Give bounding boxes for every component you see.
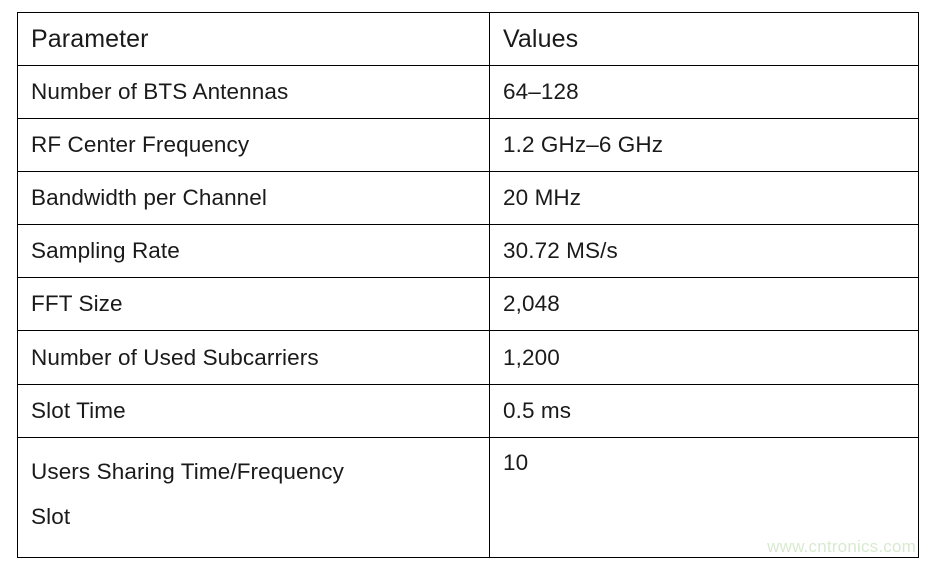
cell-parameter: RF Center Frequency xyxy=(18,119,490,172)
cell-parameter: Number of Used Subcarriers xyxy=(18,331,490,384)
cell-value: 1.2 GHz–6 GHz xyxy=(490,119,919,172)
cell-value: 0.5 ms xyxy=(490,384,919,437)
cell-parameter: Bandwidth per Channel xyxy=(18,172,490,225)
cell-value: 20 MHz xyxy=(490,172,919,225)
table-row: Number of Used Subcarriers 1,200 xyxy=(18,331,919,384)
table-header: Parameter Values xyxy=(18,13,919,66)
table-row: RF Center Frequency 1.2 GHz–6 GHz xyxy=(18,119,919,172)
table-row: Bandwidth per Channel 20 MHz xyxy=(18,172,919,225)
table-row: Sampling Rate 30.72 MS/s xyxy=(18,225,919,278)
parameter-values-table: Parameter Values Number of BTS Antennas … xyxy=(17,12,919,558)
table-row: Slot Time 0.5 ms xyxy=(18,384,919,437)
cell-value: 2,048 xyxy=(490,278,919,331)
column-header-values: Values xyxy=(490,13,919,66)
cell-parameter: Slot Time xyxy=(18,384,490,437)
column-header-parameter: Parameter xyxy=(18,13,490,66)
table-body: Number of BTS Antennas 64–128 RF Center … xyxy=(18,66,919,558)
cell-value: 1,200 xyxy=(490,331,919,384)
table-row: Users Sharing Time/Frequency Slot 10 xyxy=(18,437,919,557)
cell-parameter: FFT Size xyxy=(18,278,490,331)
cell-parameter: Sampling Rate xyxy=(18,225,490,278)
cell-value: 10 xyxy=(490,437,919,557)
cell-value: 64–128 xyxy=(490,66,919,119)
spec-table-container: Parameter Values Number of BTS Antennas … xyxy=(17,12,918,558)
table-header-row: Parameter Values xyxy=(18,13,919,66)
table-row: Number of BTS Antennas 64–128 xyxy=(18,66,919,119)
cell-value: 30.72 MS/s xyxy=(490,225,919,278)
cell-parameter: Number of BTS Antennas xyxy=(18,66,490,119)
cell-parameter-line-1: Users Sharing Time/Frequency xyxy=(31,449,489,494)
cell-parameter-line-2: Slot xyxy=(31,494,489,539)
table-row: FFT Size 2,048 xyxy=(18,278,919,331)
cell-parameter: Users Sharing Time/Frequency Slot xyxy=(18,437,490,557)
